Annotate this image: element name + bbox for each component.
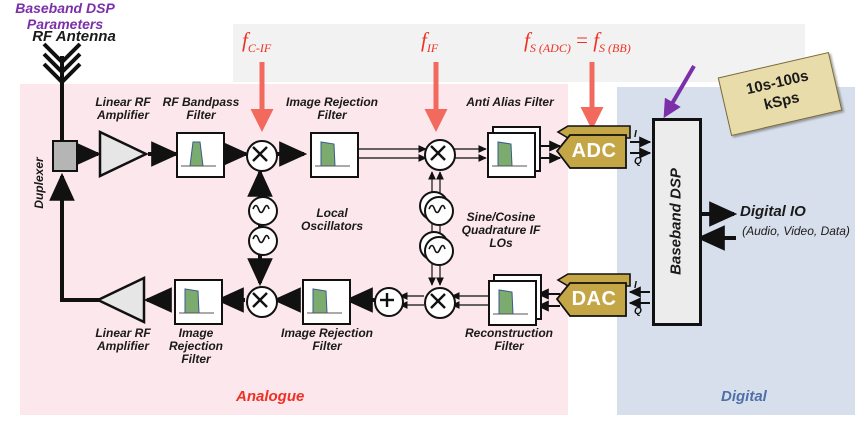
rf-antenna-label: RF Antenna [14,30,134,43]
if-mixer-block[interactable] [424,139,456,171]
multiply-icon [426,141,450,165]
sine-wave-icon [426,238,448,260]
lowpass-response-icon [312,134,353,172]
tx-rf-mixer-block[interactable] [246,286,278,318]
tx-amplifier-block[interactable] [92,274,152,334]
if-lo-label: Sine/Cosine Quadrature IF LOs [455,211,547,250]
local-oscillators-label: Local Oscillators [290,207,374,233]
rf-mixer-block[interactable] [246,140,278,172]
adc-i-label: I [634,129,637,140]
lowpass-response-icon [490,282,531,320]
multiply-icon [426,289,450,313]
multiply-icon [248,288,272,312]
duplexer-label: Duplexer [32,138,46,228]
tx-image-rejection-filter-2-block[interactable] [302,279,351,325]
rf-bandpass-filter-block[interactable] [176,132,225,178]
digital-io-label: Digital IO [740,205,852,218]
antenna-icon [44,44,80,142]
sine-wave-icon [250,198,272,220]
multiply-icon [248,142,272,166]
lowpass-response-icon [489,134,530,172]
summer-block[interactable] [374,287,404,317]
rf-bandpass-filter-label: RF Bandpass Filter [155,96,247,122]
dac-q-label: Q [634,306,642,317]
adc-q-label: Q [634,156,642,167]
baseband-dsp-block[interactable]: Baseband DSP [652,118,702,326]
dac-i-label: I [634,280,637,291]
dsp-params-arrow [666,66,694,114]
lowpass-response-icon [304,281,345,319]
anti-alias-filter-label: Anti Alias Filter [466,96,554,109]
dac-block[interactable]: DAC [556,274,632,320]
adc-label: ADC [556,140,632,163]
bandpass-response-icon [178,134,219,172]
f-c-if-label: fC-IF [242,28,271,56]
baseband-dsp-label: Baseband DSP [668,121,685,323]
digital-region-label: Digital [721,388,767,405]
sine-wave-icon [426,198,448,220]
dac-label: DAC [556,288,632,311]
tx-image-rejection-filter-1-label: Image Rejection Filter [160,327,232,366]
reconstruction-filter-label: Reconstruction Filter [454,327,564,353]
sine-wave-icon [250,228,272,250]
lowpass-response-icon [176,281,217,319]
digital-io-sub-label: (Audio, Video, Data) [736,224,856,238]
local-oscillator-2[interactable] [248,226,278,256]
rx-amplifier-block[interactable] [96,128,156,188]
adc-block[interactable]: ADC [556,126,632,172]
tx-image-rejection-filter-2-label: Image Rejection Filter [272,327,382,353]
f-if-label: fIF [421,28,438,56]
f-s-adc-equals-f-s-bb-label: fS (ADC) = fS (BB) [524,28,631,56]
rx-image-rejection-filter-label: Image Rejection Filter [278,96,386,122]
block-diagram: RF Antenna Duplexer Linear RF Amplifier … [0,0,865,436]
plus-icon [376,289,398,311]
tx-if-mixer-block[interactable] [424,287,456,319]
local-oscillator-1[interactable] [248,196,278,226]
analogue-region-label: Analogue [236,388,304,405]
rx-image-rejection-filter-block[interactable] [310,132,359,178]
tx-image-rejection-filter-1-block[interactable] [174,279,223,325]
duplexer-block[interactable] [52,140,78,172]
